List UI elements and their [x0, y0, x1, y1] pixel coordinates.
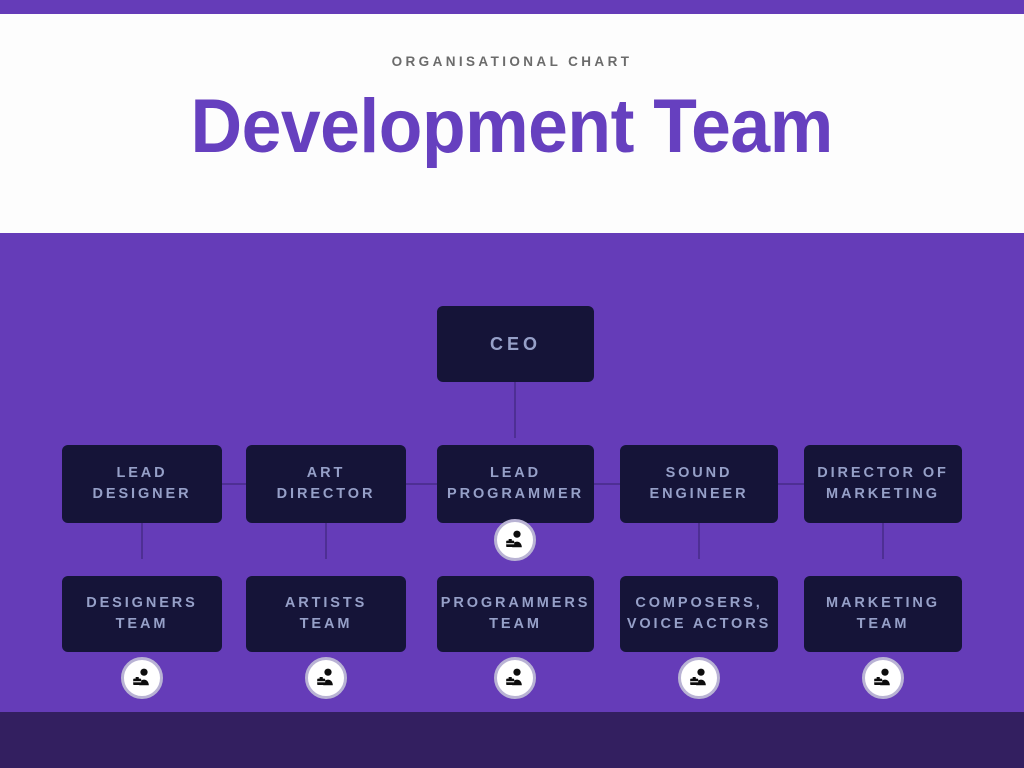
- manager-icon-badge-director-of-marketing: [862, 657, 904, 699]
- node-lead-programmer[interactable]: LEAD PROGRAMMER: [437, 445, 594, 523]
- top-accent-bar: [0, 0, 1024, 14]
- manager-icon: [503, 528, 527, 552]
- manager-icon: [130, 666, 154, 690]
- manager-icon: [503, 666, 527, 690]
- node-sound-engineer-label: SOUND ENGINEER: [644, 463, 755, 505]
- header-band: ORGANISATIONAL CHART Development Team: [0, 14, 1024, 233]
- node-lead-designer-label: LEAD DESIGNER: [87, 463, 198, 505]
- page-title: Development Team: [191, 83, 833, 170]
- connector-col5-down: [882, 523, 884, 559]
- connector-row2-b: [405, 483, 437, 485]
- org-chart: CEO LEAD DESIGNER ART D: [0, 233, 1024, 712]
- manager-icon: [871, 666, 895, 690]
- node-composers-voice-actors[interactable]: COMPOSERS, VOICE ACTORS: [620, 576, 778, 652]
- node-director-of-marketing-label: DIRECTOR OF MARKETING: [811, 463, 955, 505]
- node-artists-team[interactable]: ARTISTS TEAM: [246, 576, 406, 652]
- page-subtitle: ORGANISATIONAL CHART: [392, 54, 633, 69]
- node-ceo[interactable]: CEO: [437, 306, 594, 382]
- node-designers-team[interactable]: DESIGNERS TEAM: [62, 576, 222, 652]
- node-lead-programmer-label: LEAD PROGRAMMER: [441, 463, 590, 505]
- manager-icon: [687, 666, 711, 690]
- node-marketing-team[interactable]: MARKETING TEAM: [804, 576, 962, 652]
- connector-col2-down: [325, 523, 327, 559]
- manager-icon-badge-lead-designer: [121, 657, 163, 699]
- connector-col1-down: [141, 523, 143, 559]
- connector-row2-c: [593, 483, 621, 485]
- manager-icon-badge-sound-engineer: [678, 657, 720, 699]
- manager-icon-badge-lead-programmer: [494, 657, 536, 699]
- manager-icon-badge-ceo: [494, 519, 536, 561]
- node-art-director-label: ART DIRECTOR: [271, 463, 382, 505]
- node-programmers-team-label: PROGRAMMERS TEAM: [435, 593, 597, 635]
- slide-canvas: ORGANISATIONAL CHART Development Team CE…: [0, 0, 1024, 768]
- manager-icon-badge-art-director: [305, 657, 347, 699]
- node-director-of-marketing[interactable]: DIRECTOR OF MARKETING: [804, 445, 962, 523]
- node-ceo-label: CEO: [484, 331, 547, 357]
- node-programmers-team[interactable]: PROGRAMMERS TEAM: [437, 576, 594, 652]
- manager-icon: [314, 666, 338, 690]
- connector-col4-down: [698, 523, 700, 559]
- node-composers-voice-actors-label: COMPOSERS, VOICE ACTORS: [621, 593, 777, 635]
- node-artists-team-label: ARTISTS TEAM: [279, 593, 373, 635]
- node-art-director[interactable]: ART DIRECTOR: [246, 445, 406, 523]
- node-marketing-team-label: MARKETING TEAM: [820, 593, 946, 635]
- connector-row2-d: [777, 483, 805, 485]
- bottom-accent-band: [0, 712, 1024, 768]
- connector-row2-a: [222, 483, 248, 485]
- node-sound-engineer[interactable]: SOUND ENGINEER: [620, 445, 778, 523]
- node-designers-team-label: DESIGNERS TEAM: [80, 593, 204, 635]
- connector-ceo-to-row2: [514, 382, 516, 438]
- node-lead-designer[interactable]: LEAD DESIGNER: [62, 445, 222, 523]
